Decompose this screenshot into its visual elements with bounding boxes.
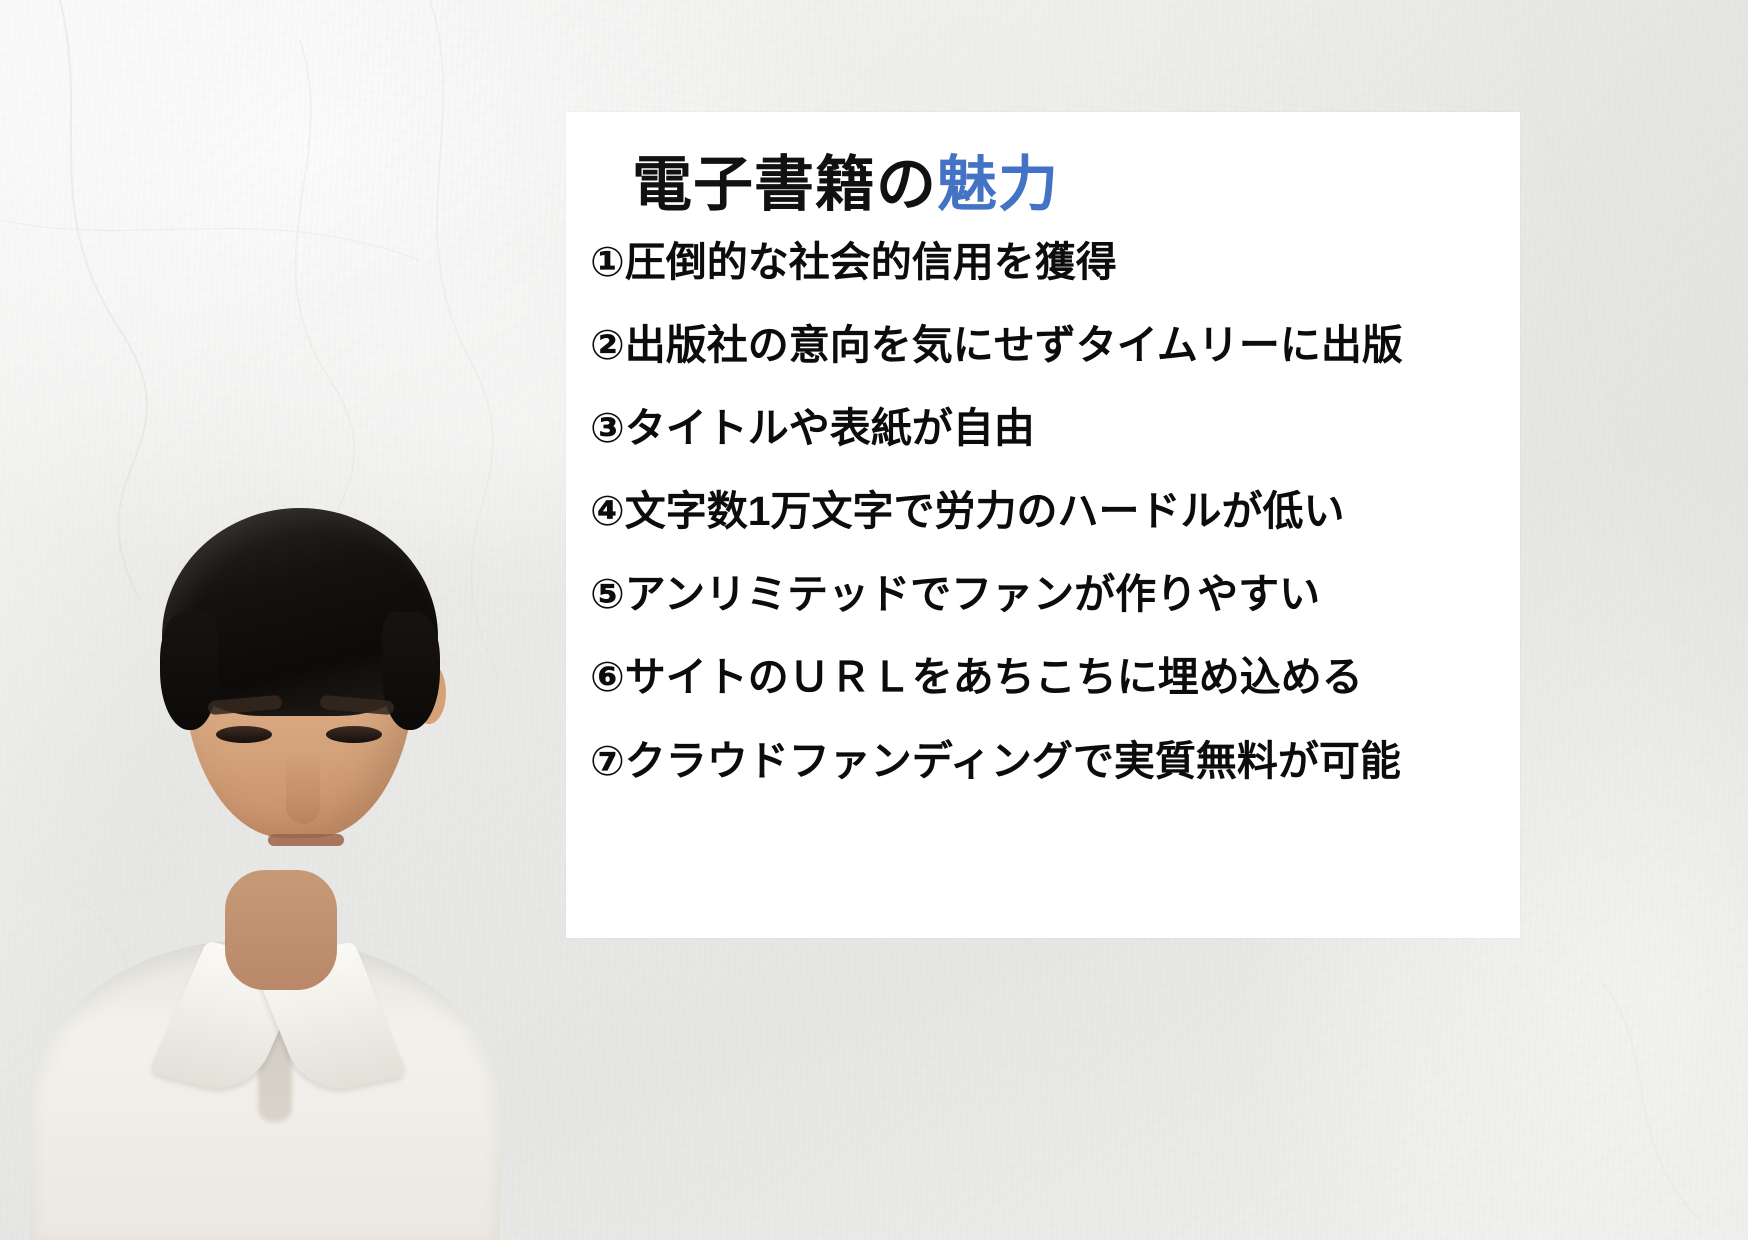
- presenter-eye-left: [216, 726, 272, 743]
- list-item: ⑤アンリミテッドでファンが作りやすい: [590, 572, 1508, 617]
- list-item: ④文字数1万文字で労力のハードルが低い: [590, 489, 1508, 534]
- slide-title-plain: 電子書籍の: [632, 151, 937, 218]
- presenter-nose: [286, 750, 320, 824]
- list-item: ③タイトルや表紙が自由: [590, 406, 1508, 451]
- slide-bullet-list: ①圧倒的な社会的信用を獲得 ②出版社の意向を気にせずタイムリーに出版 ③タイトル…: [590, 240, 1508, 784]
- list-item: ⑥サイトのＵＲＬをあちこちに埋め込める: [590, 655, 1508, 700]
- presentation-screen: 電子書籍の魅力 ①圧倒的な社会的信用を獲得 ②出版社の意向を気にせずタイムリーに…: [0, 0, 1748, 1240]
- presenter-video-feed: [0, 430, 620, 1240]
- slide-title: 電子書籍の魅力: [632, 136, 1059, 223]
- list-item: ⑦クラウドファンディングで実質無料が可能: [590, 739, 1508, 784]
- presenter-eye-right: [326, 726, 382, 743]
- slide-title-accent: 魅力: [937, 151, 1059, 218]
- presenter-mouth: [268, 834, 344, 846]
- presenter-neck: [225, 870, 337, 990]
- list-item: ①圧倒的な社会的信用を獲得: [590, 240, 1508, 285]
- list-item: ②出版社の意向を気にせずタイムリーに出版: [590, 323, 1508, 368]
- slide-panel: 電子書籍の魅力 ①圧倒的な社会的信用を獲得 ②出版社の意向を気にせずタイムリーに…: [566, 112, 1520, 938]
